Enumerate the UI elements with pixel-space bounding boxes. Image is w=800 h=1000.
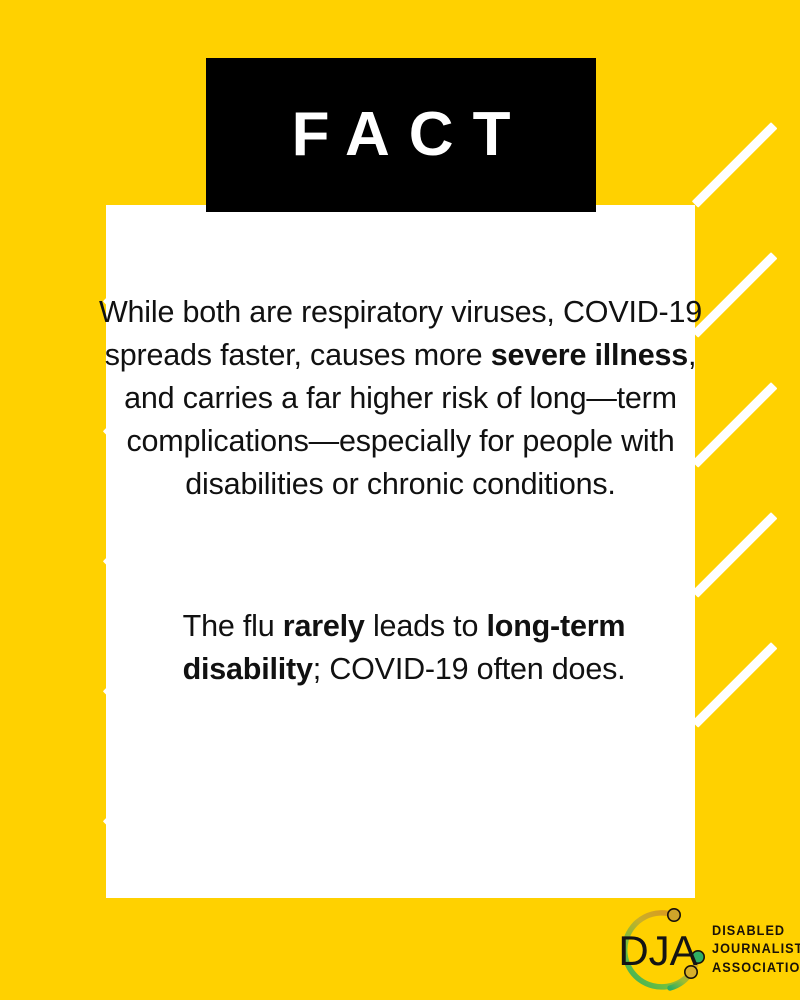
dja-logo[interactable]: DJA DISABLED JOURNALISTS ASSOCIATION: [612, 905, 797, 993]
fact-paragraph-primary: While both are respiratory viruses, COVI…: [98, 291, 703, 506]
dja-word-line-1: DISABLED: [712, 924, 800, 938]
dja-word-line-3: ASSOCIATION: [712, 961, 800, 975]
poster: While both are respiratory viruses, COVI…: [0, 0, 800, 1000]
fact-banner: FACT: [206, 58, 596, 212]
svg-text:DJA: DJA: [618, 927, 697, 974]
stripe-right-1: [692, 122, 778, 208]
fact-banner-label: FACT: [273, 104, 530, 166]
fact-paragraph-secondary: The flu rarely leads to long-term disabi…: [134, 605, 674, 691]
dja-ring-icon: DJA: [612, 905, 710, 993]
content-card: While both are respiratory viruses, COVI…: [106, 205, 695, 898]
stripe-right-3: [692, 382, 778, 468]
dja-word-line-2: JOURNALISTS: [712, 942, 800, 956]
dja-logo-wordmark: DISABLED JOURNALISTS ASSOCIATION: [712, 924, 800, 975]
stripe-right-4: [692, 512, 778, 598]
stripe-right-5: [692, 642, 778, 728]
stripe-right-2: [692, 252, 778, 338]
